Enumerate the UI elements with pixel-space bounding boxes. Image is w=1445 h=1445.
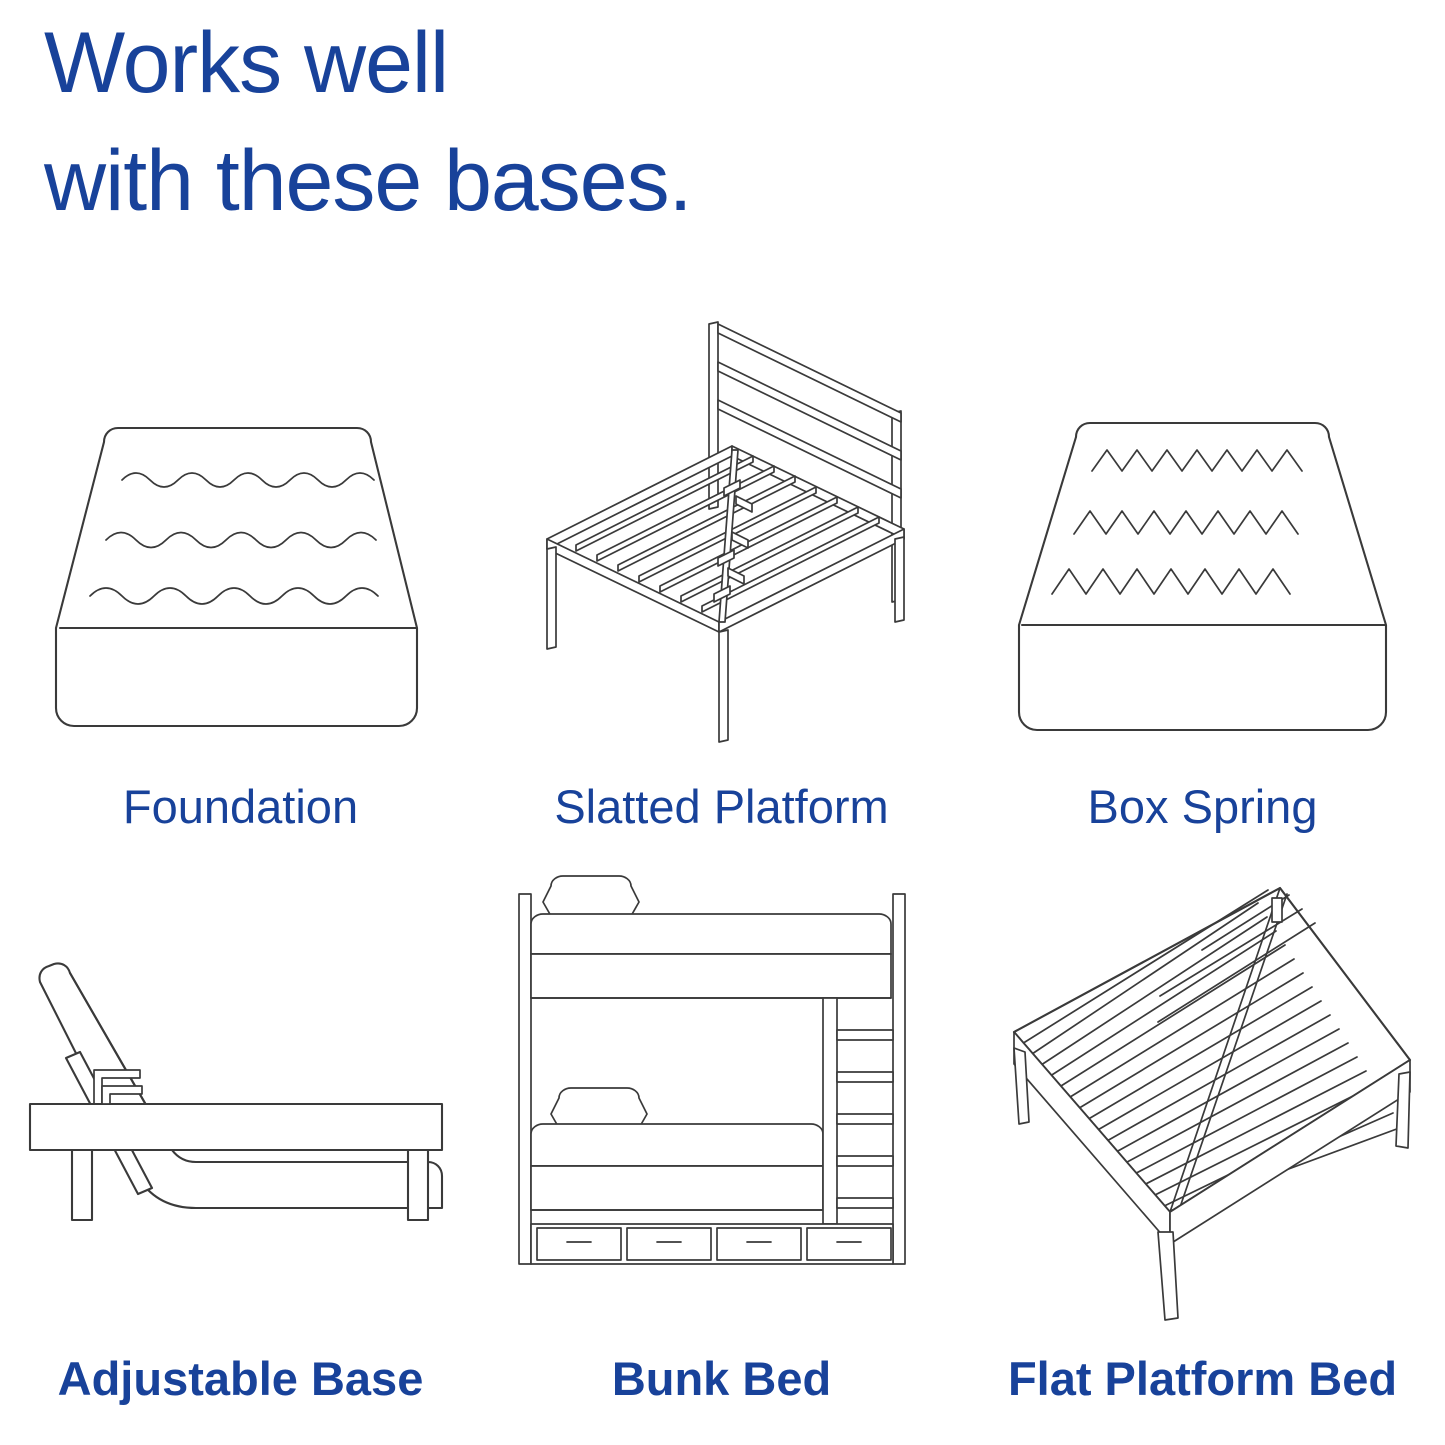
- adjustable-base-illustration: [0, 872, 481, 1342]
- flat-platform-bed-illustration: [962, 872, 1443, 1342]
- slatted-platform-bed-icon: [547, 322, 904, 742]
- foundation-illustration: [0, 300, 481, 770]
- base-card-flat-platform-bed: Flat Platform Bed: [962, 872, 1443, 1444]
- box-spring-illustration: [962, 300, 1443, 770]
- base-label-box-spring: Box Spring: [962, 778, 1443, 836]
- foundation-mattress-icon: [56, 428, 417, 726]
- adjustable-base-icon: [30, 963, 442, 1220]
- bunk-bed-illustration: [481, 872, 962, 1342]
- base-label-adjustable-base: Adjustable Base: [0, 1350, 481, 1408]
- base-card-box-spring: Box Spring: [962, 300, 1443, 872]
- base-card-foundation: Foundation: [0, 300, 481, 872]
- page-title-line-1: Works well: [44, 4, 1044, 122]
- flat-platform-bed-icon: [1014, 888, 1410, 1320]
- bases-grid: Foundation: [0, 300, 1445, 1445]
- box-spring-icon: [1019, 423, 1386, 730]
- base-label-slatted-platform: Slatted Platform: [481, 778, 962, 836]
- bases-row-bottom: Adjustable Base: [0, 872, 1445, 1444]
- bases-row-top: Foundation: [0, 300, 1445, 872]
- slatted-platform-illustration: [481, 300, 962, 770]
- base-card-bunk-bed: Bunk Bed: [481, 872, 962, 1444]
- page-title: Works well with these bases.: [44, 4, 1044, 240]
- base-card-adjustable-base: Adjustable Base: [0, 872, 481, 1444]
- base-card-slatted-platform: Slatted Platform: [481, 300, 962, 872]
- drawer: [627, 1228, 711, 1260]
- base-label-foundation: Foundation: [0, 778, 481, 836]
- drawer: [717, 1228, 801, 1260]
- infographic-page: Works well with these bases.: [0, 0, 1445, 1445]
- drawer: [537, 1228, 621, 1260]
- base-label-bunk-bed: Bunk Bed: [481, 1350, 962, 1408]
- bunk-bed-icon: [519, 876, 905, 1264]
- drawer: [807, 1228, 891, 1260]
- base-label-flat-platform-bed: Flat Platform Bed: [962, 1350, 1443, 1408]
- page-title-line-2: with these bases.: [44, 122, 1044, 240]
